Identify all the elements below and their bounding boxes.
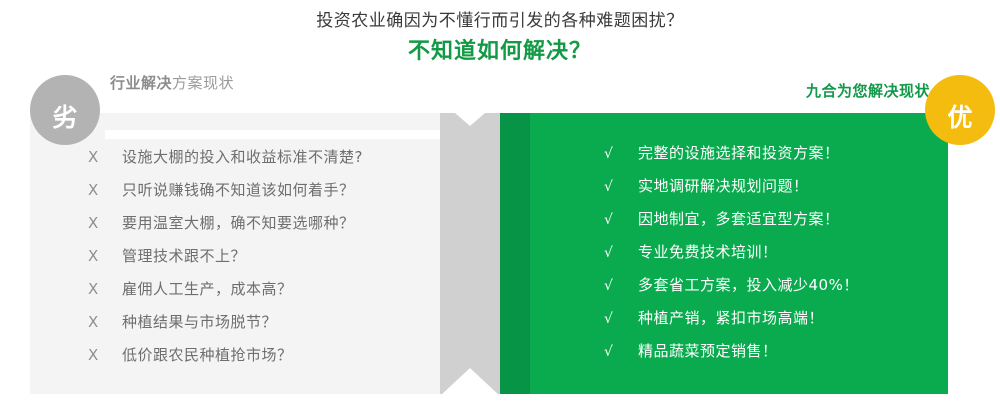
left-panel-highlight-strip bbox=[105, 130, 440, 139]
comparison-infographic: 投资农业确因为不懂行而引发的各种难题困扰？ 不知道如何解决？ 行业解决方案现状 … bbox=[0, 0, 1000, 416]
headline-block: 投资农业确因为不懂行而引发的各种难题困扰？ 不知道如何解决？ bbox=[0, 8, 1000, 68]
right-panel-caption: 九合为您解决现状 bbox=[806, 80, 930, 101]
list-item: X只听说赚钱确不知道该如何着手？ bbox=[88, 179, 438, 212]
left-panel-fold-shade bbox=[440, 113, 500, 394]
left-caption-rest: 方案现状 bbox=[172, 74, 234, 92]
list-item: √精品蔬菜预定销售！ bbox=[604, 340, 944, 373]
cross-icon: X bbox=[88, 181, 122, 199]
left-panel-caption: 行业解决方案现状 bbox=[110, 72, 234, 93]
list-item-label: 因地制宜，多套适宜型方案！ bbox=[638, 208, 840, 229]
list-item: √完整的设施选择和投资方案！ bbox=[604, 142, 944, 175]
list-item-label: 设施大棚的投入和收益标准不清楚? bbox=[122, 146, 363, 167]
cross-icon: X bbox=[88, 247, 122, 265]
cross-icon: X bbox=[88, 346, 122, 364]
list-item: X低价跟农民种植抢市场？ bbox=[88, 344, 438, 377]
list-item: √实地调研解决规划问题！ bbox=[604, 175, 944, 208]
list-item-label: 种植产销，紧扣市场高端！ bbox=[638, 307, 824, 328]
list-item: √种植产销，紧扣市场高端！ bbox=[604, 307, 944, 340]
check-icon: √ bbox=[604, 212, 638, 228]
check-icon: √ bbox=[604, 278, 638, 294]
list-item: √多套省工方案，投入减少40%！ bbox=[604, 274, 944, 307]
headline-secondary: 不知道如何解决？ bbox=[0, 36, 1000, 68]
check-icon: √ bbox=[604, 311, 638, 327]
problem-list: X设施大棚的投入和收益标准不清楚?X只听说赚钱确不知道该如何着手？X要用温室大棚… bbox=[88, 146, 438, 377]
list-item-label: 实地调研解决规划问题！ bbox=[638, 175, 809, 196]
cross-icon: X bbox=[88, 148, 122, 166]
check-icon: √ bbox=[604, 146, 638, 162]
right-panel-fold-shade bbox=[500, 113, 530, 394]
list-item-label: 精品蔬菜预定销售！ bbox=[638, 340, 778, 361]
badge-superior-label: 优 bbox=[947, 98, 972, 134]
solution-list: √完整的设施选择和投资方案！√实地调研解决规划问题！√因地制宜，多套适宜型方案！… bbox=[604, 142, 944, 373]
list-item-label: 管理技术跟不上？ bbox=[122, 245, 246, 266]
badge-superior: 优 bbox=[925, 75, 995, 145]
list-item: X设施大棚的投入和收益标准不清楚? bbox=[88, 146, 438, 179]
cross-icon: X bbox=[88, 313, 122, 331]
left-caption-strong: 行业解决 bbox=[110, 74, 172, 92]
check-icon: √ bbox=[604, 179, 638, 195]
list-item-label: 种植结果与市场脱节？ bbox=[122, 311, 277, 332]
list-item-label: 只听说赚钱确不知道该如何着手？ bbox=[122, 179, 355, 200]
list-item: √专业免费技术培训！ bbox=[604, 241, 944, 274]
cross-icon: X bbox=[88, 214, 122, 232]
badge-inferior-label: 劣 bbox=[52, 98, 77, 134]
fold-notch-top-icon bbox=[440, 100, 500, 126]
list-item: X要用温室大棚，确不知要选哪种？ bbox=[88, 212, 438, 245]
list-item-label: 要用温室大棚，确不知要选哪种？ bbox=[122, 212, 355, 233]
cross-icon: X bbox=[88, 280, 122, 298]
list-item: X雇佣人工生产，成本高？ bbox=[88, 278, 438, 311]
list-item: X种植结果与市场脱节？ bbox=[88, 311, 438, 344]
fold-notch-bottom-icon bbox=[440, 368, 500, 396]
list-item: X管理技术跟不上？ bbox=[88, 245, 438, 278]
list-item-label: 多套省工方案，投入减少40%！ bbox=[638, 274, 859, 295]
headline-primary: 投资农业确因为不懂行而引发的各种难题困扰？ bbox=[0, 8, 1000, 34]
list-item-label: 雇佣人工生产，成本高？ bbox=[122, 278, 293, 299]
list-item-label: 专业免费技术培训！ bbox=[638, 241, 778, 262]
list-item-label: 完整的设施选择和投资方案！ bbox=[638, 142, 840, 163]
check-icon: √ bbox=[604, 245, 638, 261]
check-icon: √ bbox=[604, 344, 638, 360]
list-item: √因地制宜，多套适宜型方案！ bbox=[604, 208, 944, 241]
badge-inferior: 劣 bbox=[30, 75, 100, 145]
list-item-label: 低价跟农民种植抢市场？ bbox=[122, 344, 293, 365]
